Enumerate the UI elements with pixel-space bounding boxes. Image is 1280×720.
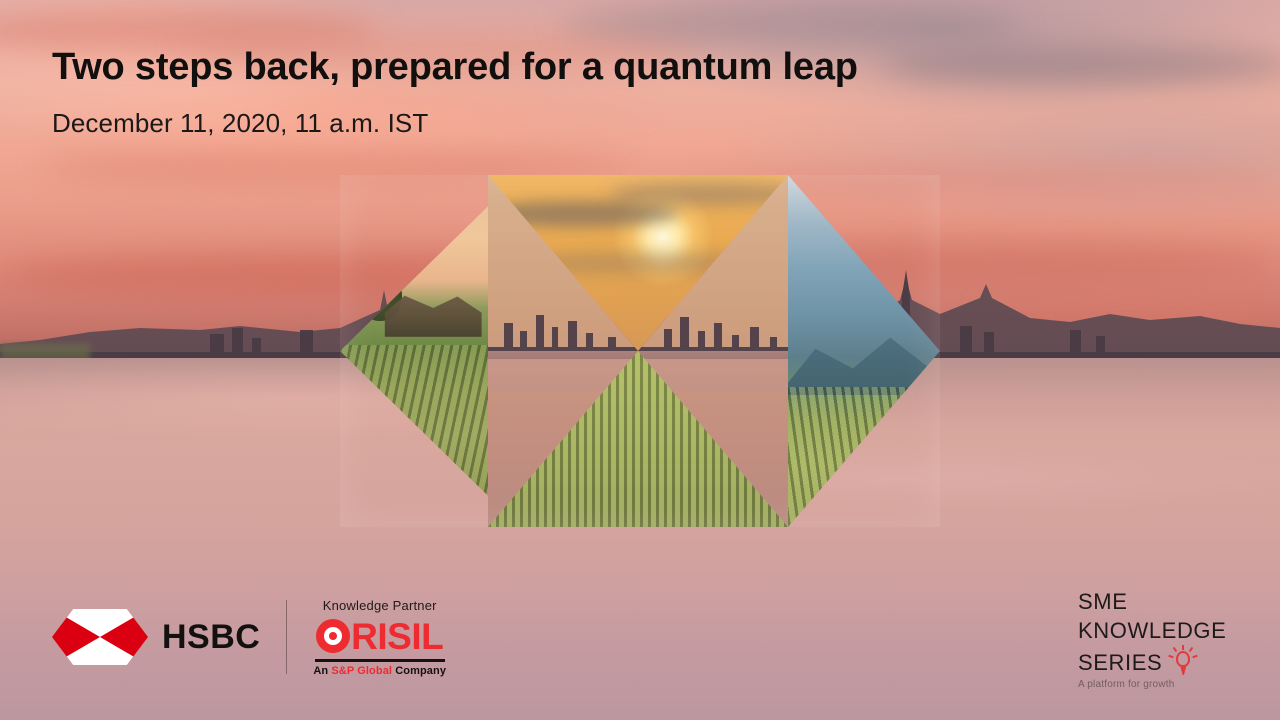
lightbulb-icon [1170,645,1196,677]
hsbc-hexagon-icon [52,609,148,665]
sme-line-1: SME [1078,588,1268,617]
sme-tagline: A platform for growth [1078,679,1268,690]
crisil-logo: Knowledge Partner RISIL An S&P Global Co… [313,598,446,677]
crisil-tagline-suffix: Company [392,665,446,677]
sme-line-2: KNOWLEDGE [1078,617,1268,646]
knowledge-partner-label: Knowledge Partner [323,598,437,613]
crisil-tagline-prefix: An [313,665,331,677]
sme-line-3: SERIES [1078,649,1162,678]
hsbc-logo: HSBC [52,609,260,665]
hsbc-wordmark: HSBC [162,618,260,657]
crisil-wordmark-text: RISIL [351,618,443,655]
crisil-target-c-icon [316,619,350,653]
crisil-rule [315,659,445,662]
crisil-wordmark: RISIL [316,618,443,655]
page-title: Two steps back, prepared for a quantum l… [52,46,858,89]
sme-knowledge-series-logo: SME KNOWLEDGE SERIES A platform for grow… [1078,588,1268,690]
sme-line-3-row: SERIES [1078,645,1268,677]
hexagon-photo-collage [340,175,940,527]
crisil-tagline-brand: S&P Global [331,665,392,677]
crisil-tagline: An S&P Global Company [313,665,446,677]
webinar-title-slide: Two steps back, prepared for a quantum l… [0,0,1280,720]
footer-logos-left: HSBC Knowledge Partner RISIL An S&P Glob… [52,598,446,676]
logo-divider [286,600,287,674]
event-datetime: December 11, 2020, 11 a.m. IST [52,108,428,139]
